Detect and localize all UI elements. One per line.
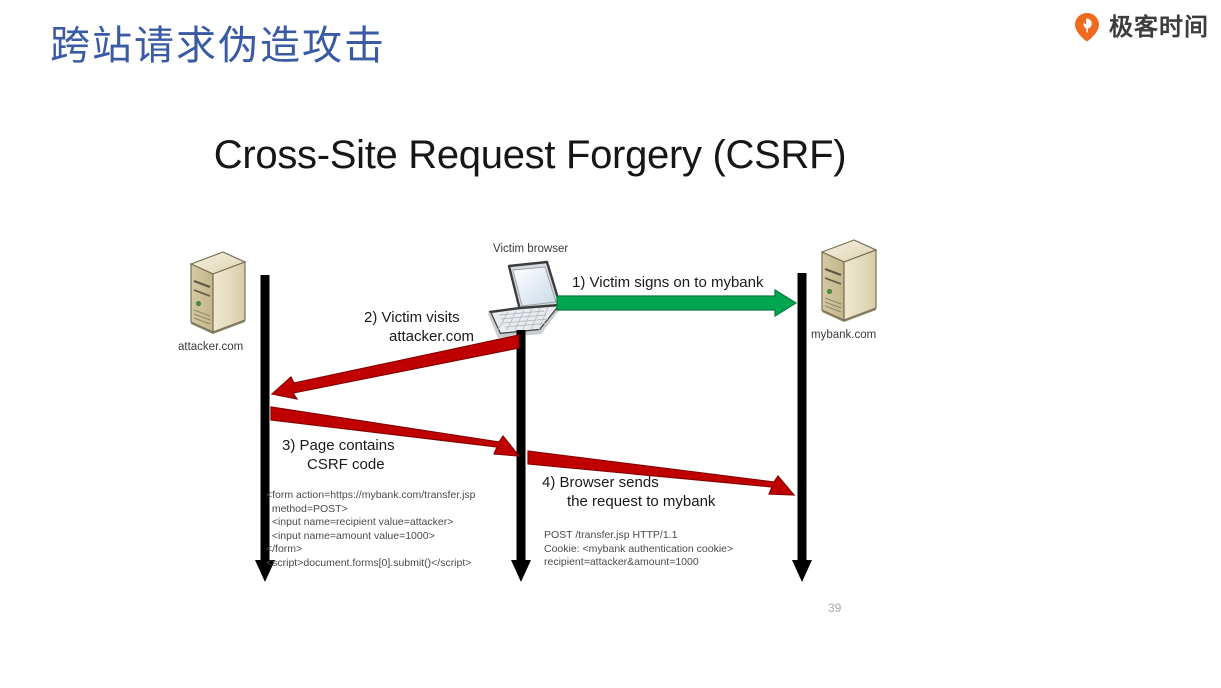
code-block-post-request: POST /transfer.jsp HTTP/1.1 Cookie: <myb… (544, 529, 733, 570)
step-label-1: 1) Victim signs on to mybank (572, 273, 763, 292)
csrf-sequence-diagram: attacker.com Victim browser mybank.com 1… (0, 0, 1221, 688)
server-icon-attacker (191, 252, 245, 334)
node-label-victim-browser: Victim browser (493, 243, 568, 255)
page-number: 39 (828, 601, 841, 615)
step-label-3: 3) Page contains CSRF code (282, 436, 395, 474)
code-block-csrf-form: <form action=https://mybank.com/transfer… (266, 489, 476, 570)
node-label-mybank: mybank.com (811, 329, 876, 341)
step-label-2: 2) Victim visits attacker.com (364, 308, 474, 346)
lifeline-mybank (792, 273, 812, 582)
laptop-icon-victim (488, 262, 560, 338)
arrow-step1 (557, 290, 796, 316)
server-icon-mybank (822, 240, 876, 322)
step-label-4: 4) Browser sends the request to mybank (542, 473, 715, 511)
node-label-attacker: attacker.com (178, 341, 243, 353)
slide-canvas: 极客时间 跨站请求伪造攻击 Cross-Site Request Forgery… (0, 0, 1221, 688)
